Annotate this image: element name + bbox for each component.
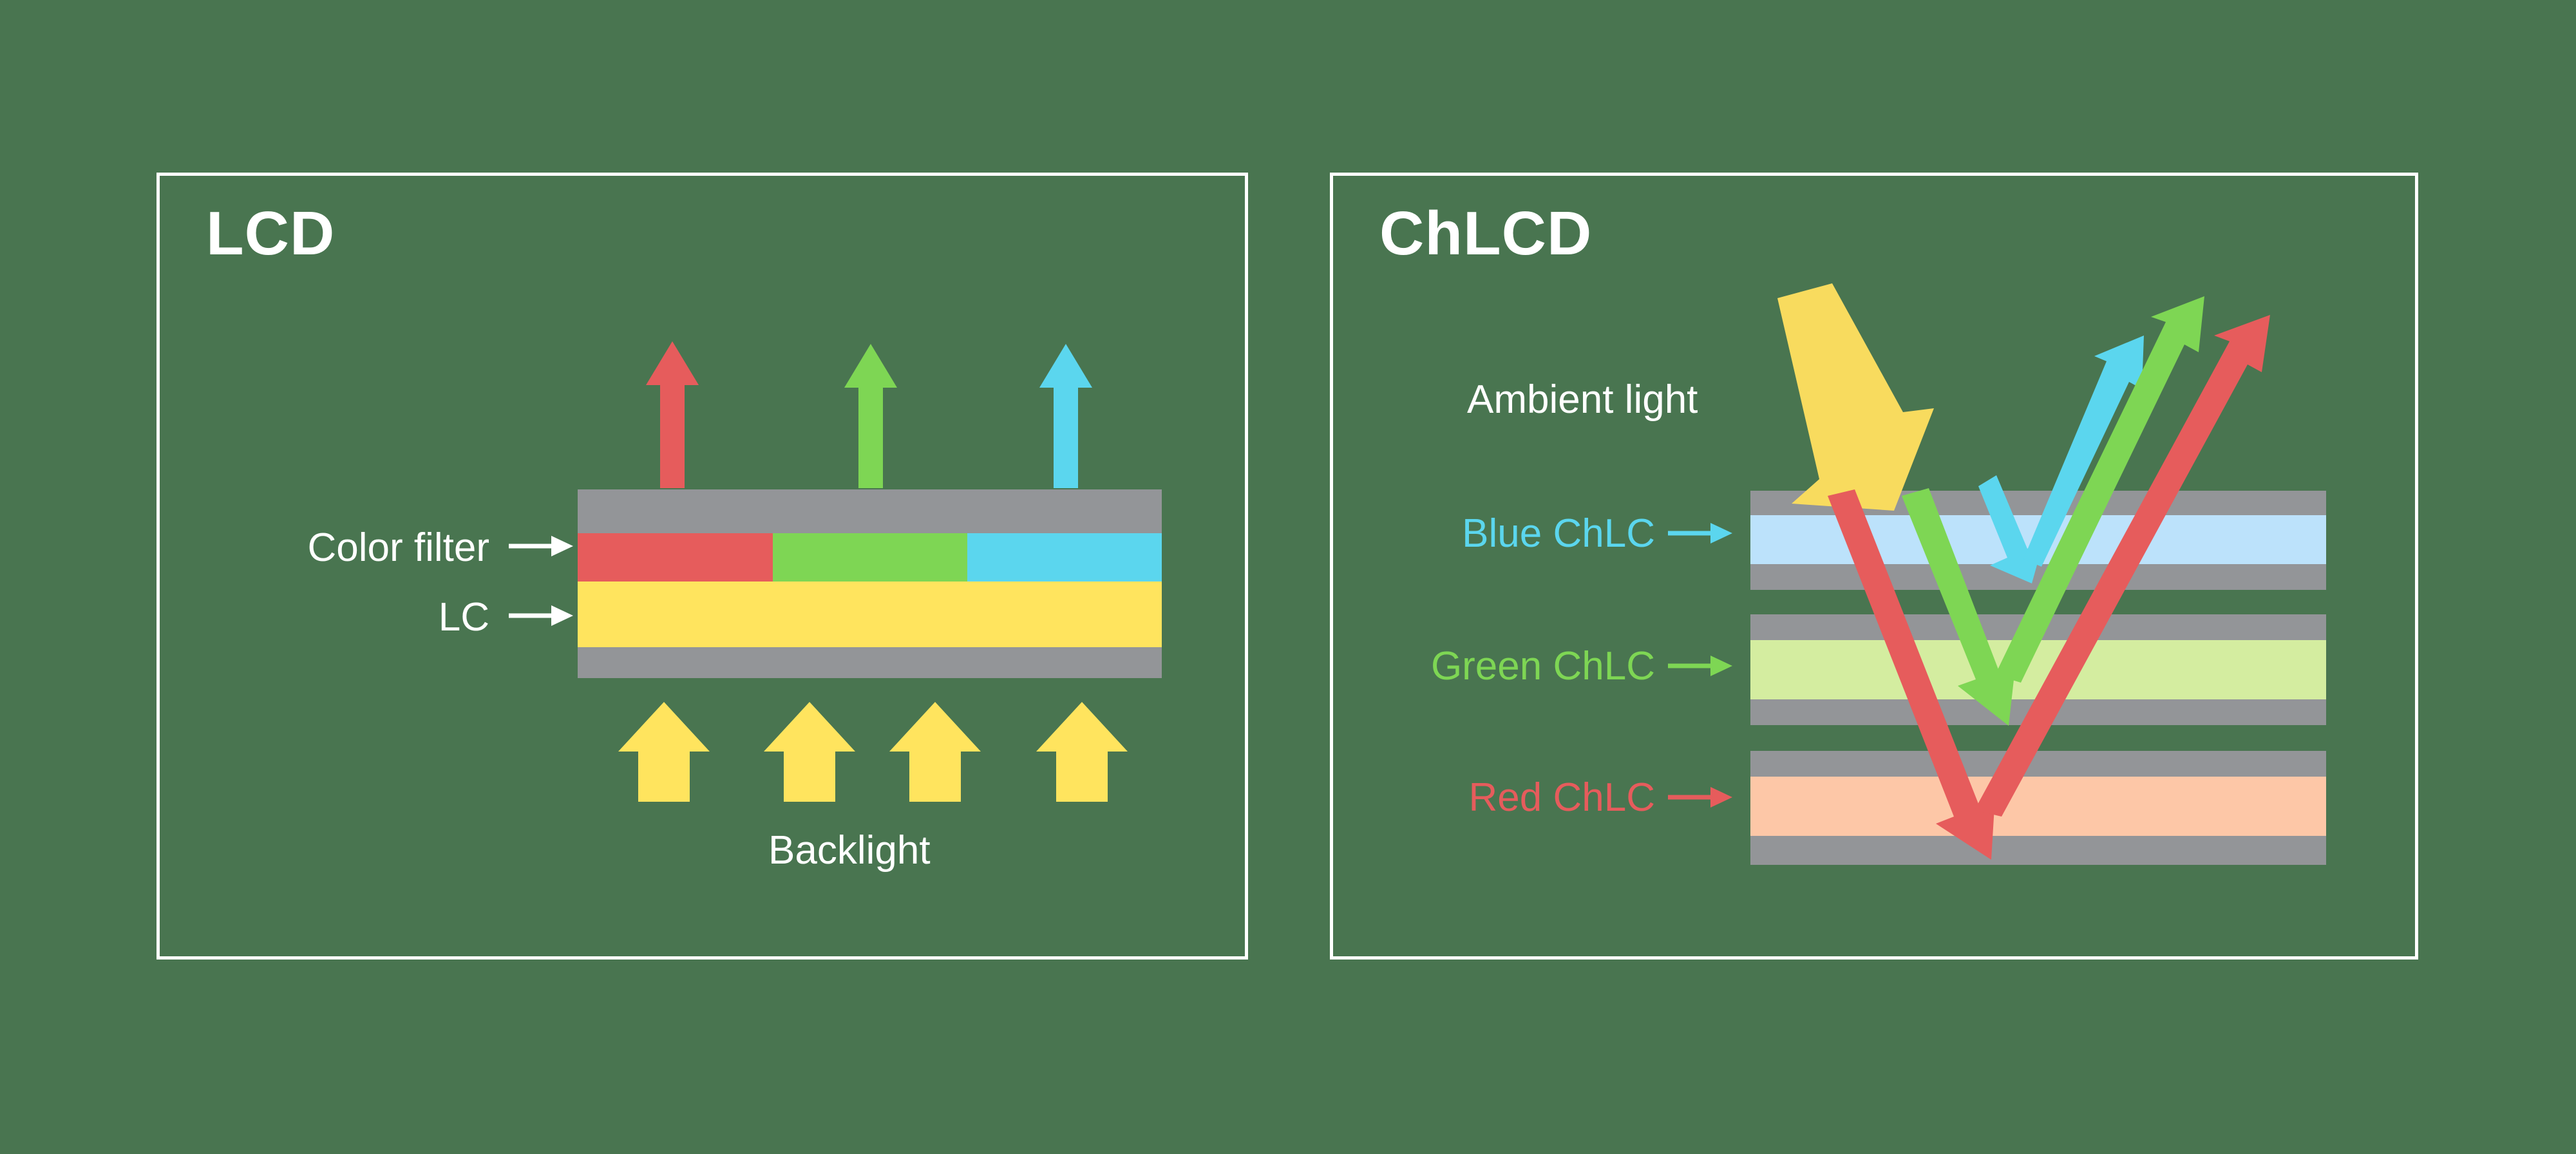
color-filter-pointer-arrow [509,536,573,556]
arrows-layer [0,0,2576,1154]
backlight-arrows [618,702,1128,802]
red-incident-ray [1828,489,1995,860]
backlight-arrow-1 [618,702,710,802]
backlight-arrow-2 [764,702,855,802]
blue-incident-ray [1978,475,2044,583]
lc-pointer-arrow [509,605,573,626]
blue-chlc-pointer-arrow [1668,523,1732,544]
green-chlc-pointer-arrow [1668,656,1732,676]
red-chlc-pointer-arrow [1668,787,1732,808]
diagram-canvas: LCD Color filter LC Backlight ChLCD Ambi… [0,0,2576,1154]
ambient-light-arrow [1777,283,1934,511]
blue-output-arrow [1039,344,1092,488]
backlight-arrow-3 [889,702,981,802]
backlight-arrow-4 [1036,702,1128,802]
green-output-arrow [844,344,897,488]
red-output-arrow [646,341,699,488]
